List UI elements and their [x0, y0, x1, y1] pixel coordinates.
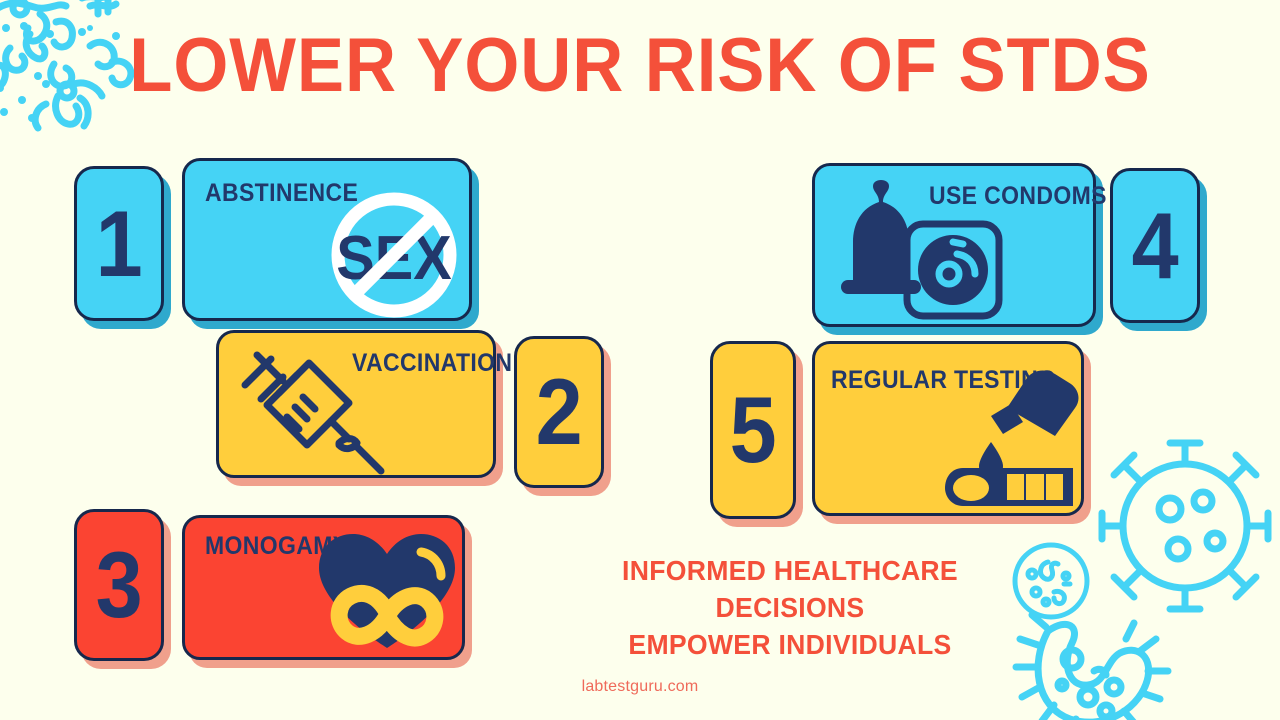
tagline-line-1: INFORMED HEALTHCARE DECISIONS — [553, 552, 1028, 626]
card-label: MONOGAMY — [205, 532, 349, 561]
card-label: VACCINATION — [352, 349, 512, 378]
card-monogamy[interactable]: MONOGAMY — [182, 515, 465, 660]
card-label: USE CONDOMS — [929, 182, 1107, 211]
step-number-2: 2 — [514, 336, 604, 488]
infographic-canvas: LOWER YOUR RISK OF STDS 1 ABSTINENCE SEX… — [0, 0, 1280, 720]
step-number-4: 4 — [1110, 168, 1200, 323]
step-number-3: 3 — [74, 509, 164, 661]
card-abstinence[interactable]: ABSTINENCE SEX — [182, 158, 472, 321]
page-title: LOWER YOUR RISK OF STDS — [45, 22, 1235, 109]
tagline: INFORMED HEALTHCARE DECISIONS EMPOWER IN… — [553, 552, 1028, 664]
step-number-5: 5 — [710, 341, 796, 519]
tagline-line-2: EMPOWER INDIVIDUALS — [553, 626, 1028, 663]
no-sex-icon: SEX — [318, 191, 470, 324]
footer-watermark: labtestguru.com — [0, 678, 1280, 696]
card-label: REGULAR TESTING — [831, 366, 1056, 395]
card-label: ABSTINENCE — [205, 179, 358, 208]
step-number-label: 3 — [95, 538, 142, 632]
step-number-label: 2 — [535, 365, 582, 459]
card-use-condoms[interactable]: USE CONDOMS — [812, 163, 1096, 327]
card-regular-testing[interactable]: REGULAR TESTING — [812, 341, 1084, 516]
card-vaccination[interactable]: VACCINATION — [216, 330, 496, 478]
step-number-label: 1 — [95, 197, 142, 291]
step-number-label: 4 — [1131, 199, 1178, 293]
step-number-label: 5 — [729, 383, 776, 477]
step-number-1: 1 — [74, 166, 164, 321]
svg-text:SEX: SEX — [336, 223, 451, 292]
